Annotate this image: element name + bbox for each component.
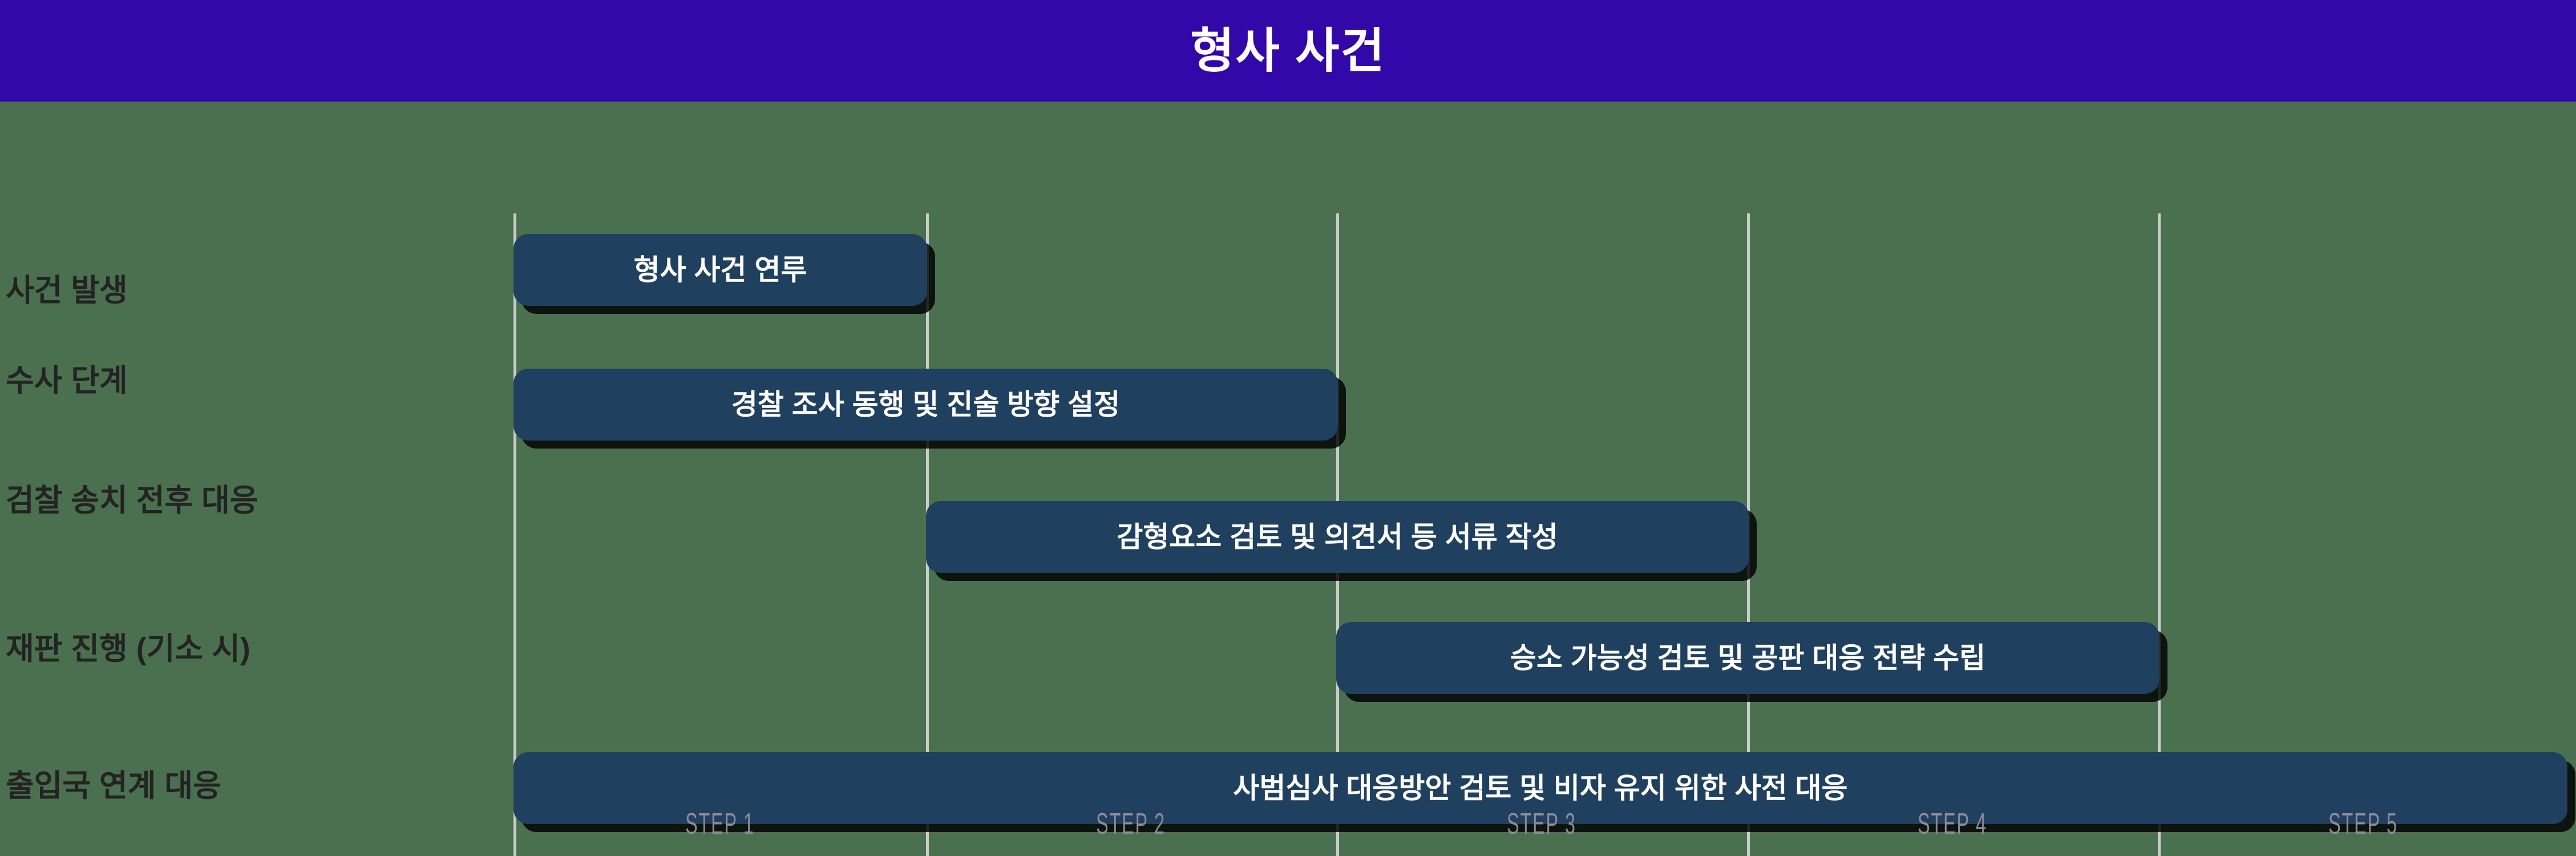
step-tick-4: STEP 4 [1888, 809, 2016, 839]
gantt-bar-label: 승소 가능성 검토 및 공판 대응 전략 수립 [1510, 644, 1985, 672]
row-label-prosecution: 검찰 송치 전후 대응 [6, 485, 258, 516]
gantt-bar-prosecution[interactable]: 감형요소 검토 및 의견서 등 서류 작성 [926, 501, 1749, 573]
gantt-bar-label: 감형요소 검토 및 의견서 등 서류 작성 [1117, 523, 1558, 551]
gantt-chart-root: 형사 사건 사건 발생 수사 단계 검찰 송치 전후 대응 재판 진행 (기소 … [0, 0, 2576, 856]
step-tick-5: STEP 5 [2299, 809, 2427, 839]
row-label-trial: 재판 진행 (기소 시) [6, 633, 250, 664]
page-title: 형사 사건 [1190, 27, 1385, 75]
chart-header: 형사 사건 [0, 0, 2576, 102]
gantt-bar-label: 사범심사 대응방안 검토 및 비자 유지 위한 사전 대응 [1233, 774, 1847, 802]
gantt-bar-investigation[interactable]: 경찰 조사 동행 및 진술 방향 설정 [513, 369, 1338, 441]
gantt-bar-trial[interactable]: 승소 가능성 검토 및 공판 대응 전략 수립 [1336, 622, 2160, 694]
step-axis: STEP 1 STEP 2 STEP 3 STEP 4 STEP 5 [0, 809, 2576, 856]
row-label-immigration: 출입국 연계 대응 [6, 770, 221, 801]
step-tick-1: STEP 1 [656, 809, 783, 839]
plot-area: 사건 발생 수사 단계 검찰 송치 전후 대응 재판 진행 (기소 시) 출입국… [0, 102, 2576, 809]
step-tick-3: STEP 3 [1478, 809, 1605, 839]
step-tick-2: STEP 2 [1067, 809, 1194, 839]
row-label-investigation: 수사 단계 [6, 365, 128, 396]
gantt-bar-label: 경찰 조사 동행 및 진술 방향 설정 [731, 390, 1120, 419]
row-label-incident: 사건 발생 [6, 275, 128, 306]
gantt-bar-label: 형사 사건 연루 [634, 256, 807, 284]
gantt-bar-incident[interactable]: 형사 사건 연루 [513, 234, 927, 306]
